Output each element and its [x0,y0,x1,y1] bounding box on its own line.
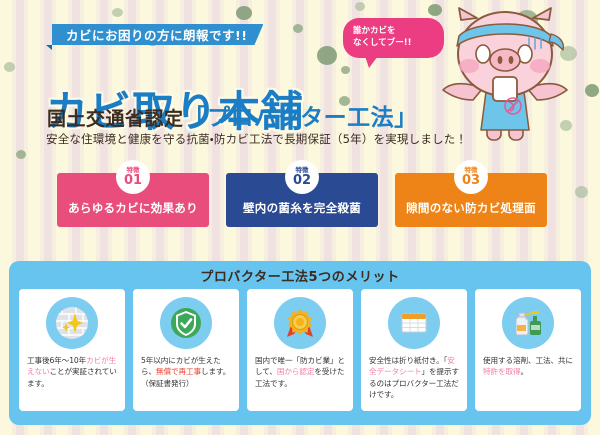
pig-mascot [425,2,585,162]
merit-text: 安全性は折り紙付き。「安全データシート」を提示するのはプロバクター工法だけです。 [367,355,461,401]
merit-text: 5年以内にカビが生えたら、無償で再工事します。（保証書発行） [139,355,233,389]
feature-card-02[interactable]: 特徴 02 壁内の菌糸を完全殺菌 [226,173,378,227]
speech-line-1: 誰かカビを [353,25,435,37]
merit-card[interactable]: 安全性は折り紙付き。「安全データシート」を提示するのはプロバクター工法だけです。 [361,289,467,411]
spore-icon [112,8,123,17]
promo-page: カビにお困りの方に朗報です!! カビ取り本舗 国土交通省認定「プロバクター工法」… [0,0,600,435]
feature-badge-circle-01: 特徴 01 [116,160,150,194]
spore-icon [16,150,26,159]
shield-check-icon [166,303,206,343]
merit-text-part: 工事後6年〜10年 [27,356,86,365]
merit-icon-wrap [388,297,440,349]
ribbon-tail-left-icon [46,45,52,50]
merit-text: 使用する溶剤、工法、共に特許を取得。 [481,355,575,378]
lead-text: 安全な住環境と健康を守る抗菌・防カビ工法で長期保証（5年）を実現しました！ [46,131,467,147]
spore-icon [355,2,365,11]
merit-icon-wrap [502,297,554,349]
spray-bottle-icon [508,303,548,343]
merit-text-highlight: 国から認定 [277,367,314,376]
subtitle-prefix: 国土交通省認定 [47,108,184,130]
feature-label-01: あらゆるカビに効果あり [68,200,198,216]
subtitle: 国土交通省認定「プロバクター工法」 [47,98,418,132]
merit-card[interactable]: 使用する溶剤、工法、共に特許を取得。 [475,289,581,411]
spore-icon [585,84,599,97]
data-sheet-table-icon [394,303,434,343]
feature-badge-number-02: 02 [293,174,311,187]
merit-icon-wrap [274,297,326,349]
merit-text: 国内で唯一「防カビ業」として、国から認定を受けた工法です。 [253,355,347,389]
feature-label-02: 壁内の菌糸を完全殺菌 [243,200,361,216]
subtitle-highlight: 「プロバクター工法」 [184,105,418,131]
merit-card[interactable]: 5年以内にカビが生えたら、無償で再工事します。（保証書発行） [133,289,239,411]
merit-card[interactable]: 工事後6年〜10年カビが生えないことが実証されています。 [19,289,125,411]
feature-badge-number-01: 01 [124,174,142,187]
speech-bubble-tail-icon [365,56,378,68]
merit-icon-wrap [46,297,98,349]
merit-card-list: 工事後6年〜10年カビが生えないことが実証されています。 5年以内にカビが生えた… [9,289,591,411]
feature-card-03[interactable]: 特徴 03 隙間のない防カビ処理面 [395,173,547,227]
merit-card[interactable]: 国内で唯一「防カビ業」として、国から認定を受けた工法です。 [247,289,353,411]
merit-icon-wrap [160,297,212,349]
feature-badge-circle-02: 特徴 02 [285,160,319,194]
award-medal-icon [280,303,320,343]
spore-icon [236,6,252,20]
feature-card-01[interactable]: 特徴 01 あらゆるカビに効果あり [57,173,209,227]
merits-title: プロバクター工法5つのメリット [9,261,591,289]
spore-icon [575,186,588,198]
brick-wall-sparkle-icon [52,303,92,343]
merit-text-highlight: 特許を取得 [483,367,520,376]
merits-panel: プロバクター工法5つのメリット [9,261,591,425]
spore-icon [293,24,303,33]
merit-text-part: 。 [520,367,528,376]
header-ribbon-banner: カビにお困りの方に朗報です!! [52,24,263,45]
pig-mascot-icon [425,2,585,162]
merit-text: 工事後6年〜10年カビが生えないことが実証されています。 [25,355,119,389]
header-ribbon-text: カビにお困りの方に朗報です!! [66,25,247,44]
spore-icon [341,66,350,74]
spore-icon [4,62,15,72]
feature-badge-number-03: 03 [462,174,480,187]
feature-label-03: 隙間のない防カビ処理面 [406,200,536,216]
merit-text-part: 安全性は折り紙付き。「 [369,356,447,365]
merit-text-highlight: 無償で再工事 [156,367,201,376]
merit-text-part: 使用する溶剤、工法、共に [483,356,573,365]
speech-line-2: なくしてブー!! [353,37,435,49]
spore-icon [317,46,337,65]
feature-badge-circle-03: 特徴 03 [454,160,488,194]
feature-badges: 特徴 01 あらゆるカビに効果あり 特徴 02 壁内の菌糸を完全殺菌 特徴 03… [57,173,547,227]
